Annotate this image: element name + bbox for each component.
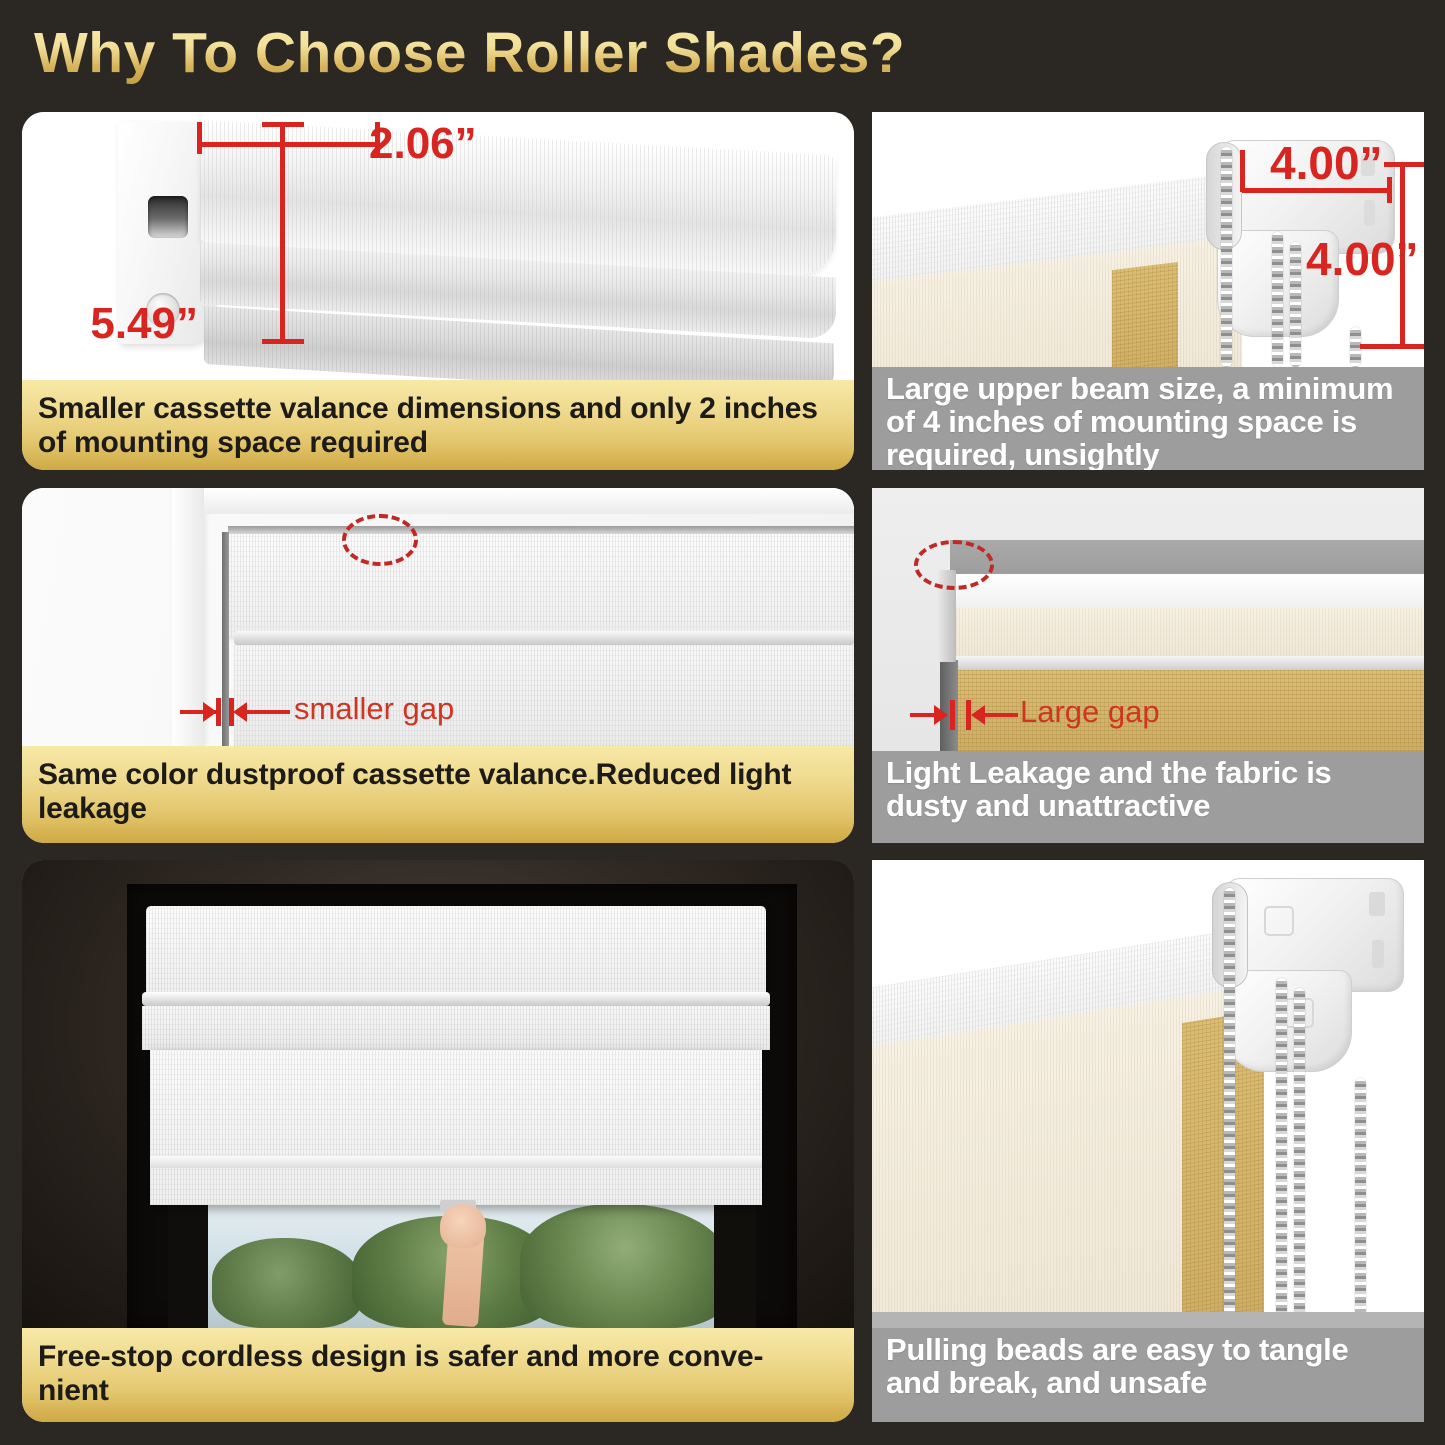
panel-pro-cassette-dimensions: 2.06” 5.49” Smaller cassette valance dim… bbox=[22, 112, 854, 470]
panel-caption: Large upper beam size, a minimum of 4 in… bbox=[872, 367, 1424, 470]
height-dimension-line bbox=[280, 122, 285, 344]
highlight-ellipse bbox=[914, 540, 994, 590]
bracket-notch-bottom bbox=[1372, 940, 1384, 968]
panel-caption-line-1: Free-stop cordless design is safer and m… bbox=[38, 1340, 763, 1373]
shade-fabric bbox=[150, 1050, 762, 1205]
cassette-valance-top bbox=[146, 906, 766, 994]
panel-caption: Same color dustproof cassette valance.Re… bbox=[22, 746, 854, 843]
hand-fingers bbox=[440, 1204, 486, 1248]
fabric-cream-band bbox=[956, 608, 1424, 660]
gap-arrow-right-head bbox=[233, 702, 247, 722]
height-dimension-tick-bottom bbox=[262, 339, 304, 344]
height-dimension-label: 5.49” bbox=[90, 299, 198, 349]
bottom-rail bbox=[956, 656, 1424, 670]
panel-caption-line-2: nient bbox=[38, 1374, 109, 1407]
gap-arrow-left-head bbox=[203, 702, 217, 722]
panel-photo: 2.06” 5.49” bbox=[22, 112, 854, 380]
tree-left bbox=[212, 1238, 362, 1328]
gap-arrow-right-shaft bbox=[240, 710, 290, 714]
panel-card: 4.00” 4.00” Large upper beam size, a min… bbox=[872, 112, 1424, 470]
bead-chain-middle bbox=[1272, 232, 1283, 367]
panel-photo: 4.00” 4.00” bbox=[872, 112, 1424, 367]
end-cap-slot bbox=[148, 196, 188, 238]
cassette-valance-face bbox=[228, 532, 854, 637]
panel-card: Large gap Light Leakage and the fabric i… bbox=[872, 488, 1424, 843]
hanging-fabric-tan bbox=[1112, 262, 1178, 367]
bead-chain-middle-2 bbox=[1290, 242, 1301, 367]
floor-shadow bbox=[872, 1312, 1424, 1328]
panel-photo: smaller gap bbox=[22, 488, 854, 746]
gap-arrow-left-head bbox=[934, 705, 948, 725]
gap-tick-left bbox=[950, 700, 955, 730]
comparison-grid: 2.06” 5.49” Smaller cassette valance dim… bbox=[0, 0, 1445, 1445]
panel-caption: Light Leakage and the fabric is dusty an… bbox=[872, 751, 1424, 843]
panel-photo bbox=[872, 860, 1424, 1328]
bracket-notch-bottom bbox=[1364, 200, 1375, 226]
window-frame-right bbox=[714, 1190, 756, 1328]
bead-chain-middle bbox=[1276, 978, 1287, 1328]
panel-pro-dustproof-valance: smaller gap Same color dustproof cassett… bbox=[22, 488, 854, 843]
panel-con-pulling-beads: Pulling beads are easy to tangle and bre… bbox=[872, 860, 1424, 1422]
panel-caption: Pulling beads are easy to tangle and bre… bbox=[872, 1328, 1424, 1422]
cassette-valance-front bbox=[142, 1006, 770, 1050]
width-dimension-tick-left bbox=[1240, 150, 1245, 192]
gap-arrow-right-head bbox=[971, 705, 985, 725]
cassette-valance-bottom-lip bbox=[234, 631, 854, 645]
panel-photo bbox=[22, 860, 854, 1328]
width-dimension-label: 4.00” bbox=[1270, 136, 1383, 190]
width-dimension-label: 2.06” bbox=[369, 119, 477, 169]
width-dimension-line bbox=[197, 142, 380, 147]
bead-chain-front bbox=[1221, 147, 1232, 367]
highlight-ellipse bbox=[342, 514, 418, 566]
cassette-valance-top-edge bbox=[228, 526, 854, 534]
bead-chain-front bbox=[1224, 888, 1235, 1320]
window-casing-left bbox=[172, 488, 204, 746]
panel-card: Pulling beads are easy to tangle and bre… bbox=[872, 860, 1424, 1422]
height-dimension-tick-top bbox=[1384, 162, 1424, 167]
tree-right bbox=[520, 1204, 730, 1328]
height-dimension-label: 4.00” bbox=[1306, 232, 1419, 286]
height-dimension-tick-bottom bbox=[1360, 344, 1424, 349]
width-dimension-tick-left bbox=[197, 122, 202, 154]
panel-pro-cordless-design: Free-stop cordless design is safer and m… bbox=[22, 860, 854, 1422]
panel-con-light-leakage: Large gap Light Leakage and the fabric i… bbox=[872, 488, 1424, 843]
width-dimension-tick-right bbox=[1387, 177, 1392, 203]
height-dimension-tick-top bbox=[262, 122, 304, 127]
panel-card: Free-stop cordless design is safer and m… bbox=[22, 860, 854, 1422]
gap-label: Large gap bbox=[1020, 694, 1160, 730]
side-gap-shadow bbox=[222, 532, 229, 746]
panel-con-large-upper-beam: 4.00” 4.00” Large upper beam size, a min… bbox=[872, 112, 1424, 470]
gap-label: smaller gap bbox=[294, 691, 454, 727]
shade-bottom-rail bbox=[150, 1156, 762, 1168]
panel-caption: Free-stop cordless design is safer and m… bbox=[22, 1328, 854, 1422]
bead-chain-middle-2 bbox=[1294, 988, 1305, 1328]
panel-card: smaller gap Same color dustproof cassett… bbox=[22, 488, 854, 843]
window-casing-top bbox=[204, 488, 854, 514]
bracket-notch-top bbox=[1369, 892, 1385, 916]
bead-chain-rear bbox=[1355, 1078, 1366, 1328]
panel-card: 2.06” 5.49” Smaller cassette valance dim… bbox=[22, 112, 854, 470]
cassette-valance-lip bbox=[142, 992, 770, 1006]
panel-caption: Smaller cassette valance dimensions and … bbox=[22, 380, 854, 470]
panel-photo: Large gap bbox=[872, 488, 1424, 751]
bracket-icon-upper bbox=[1264, 906, 1294, 936]
window-frame-left bbox=[168, 1190, 208, 1328]
